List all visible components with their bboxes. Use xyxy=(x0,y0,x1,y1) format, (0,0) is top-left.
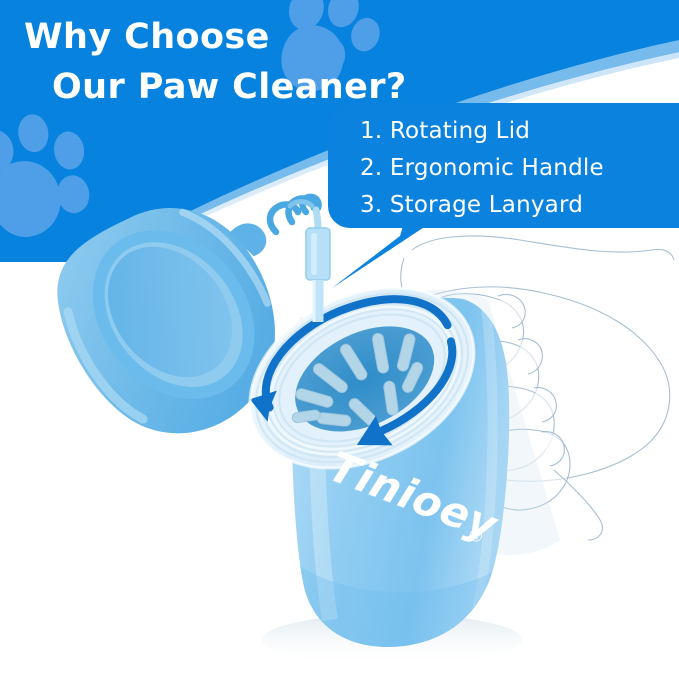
lanyard-cord-top xyxy=(316,210,318,230)
feature-speech-bubble: 1. Rotating Lid 2. Ergonomic Handle 3. S… xyxy=(328,103,679,228)
product-illustration: Tinioey ® xyxy=(0,0,679,675)
lanyard-toggle xyxy=(306,228,330,280)
feature-list: 1. Rotating Lid 2. Ergonomic Handle 3. S… xyxy=(360,113,679,224)
infographic-canvas: Why Choose Our Paw Cleaner? xyxy=(0,0,679,675)
storage-lanyard xyxy=(270,197,330,322)
feature-list-item-3: 3. Storage Lanyard xyxy=(360,187,679,224)
feature-list-item-2: 2. Ergonomic Handle xyxy=(360,150,679,187)
feature-list-item-1: 1. Rotating Lid xyxy=(360,113,679,150)
